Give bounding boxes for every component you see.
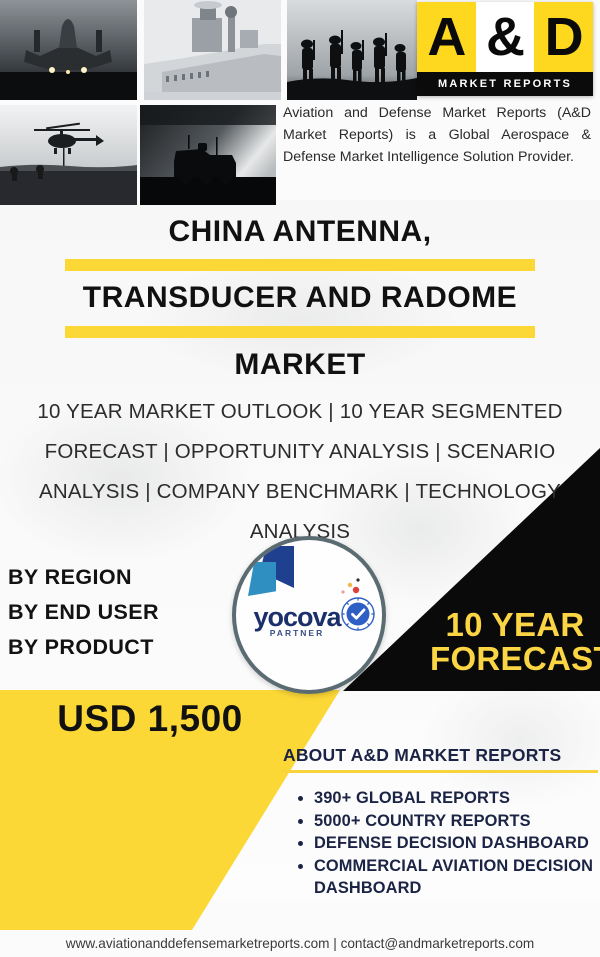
logo-letter-d-cell: D	[534, 2, 593, 72]
logo-letter-amp-cell: &	[476, 2, 535, 72]
logo-tagline: MARKET REPORTS	[438, 78, 572, 90]
verified-check-icon	[340, 596, 376, 632]
title-divider-1	[65, 259, 535, 271]
armored-vehicle-photo	[140, 105, 276, 205]
list-item: DEFENSE DECISION DASHBOARD	[314, 832, 600, 855]
logo-letter-a-cell: A	[417, 2, 476, 72]
title-line-1: CHINA ANTENNA,	[0, 216, 600, 248]
logo-letter-ampersand: &	[486, 10, 524, 64]
forecast-badge: 10 YEAR FORECAST	[430, 608, 600, 677]
list-item: COMMERCIAL AVIATION DECISION DASHBOARD	[314, 855, 600, 900]
about-heading: ABOUT A&D MARKET REPORTS	[283, 745, 593, 766]
report-title-block: CHINA ANTENNA, TRANSDUCER AND RADOME MAR…	[0, 216, 600, 381]
segment-item-region: BY REGION	[8, 560, 159, 595]
yocova-partner-label: PARTNER	[247, 628, 347, 638]
about-feature-list: 390+ GLOBAL REPORTS 5000+ COUNTRY REPORT…	[296, 787, 600, 900]
report-cover-poster: A & D MARKET REPORTS Aviation and Defens…	[0, 0, 600, 957]
logo-letter-a: A	[427, 10, 465, 64]
segmentation-list: BY REGION BY END USER BY PRODUCT	[8, 560, 159, 665]
title-divider-2	[65, 326, 535, 338]
ad-market-reports-logo: A & D MARKET REPORTS	[417, 2, 593, 96]
footer-contact-text: www.aviationanddefensemarketreports.com …	[0, 931, 600, 957]
list-item: 390+ GLOBAL REPORTS	[314, 787, 600, 810]
title-line-3: MARKET	[0, 349, 600, 381]
logo-letter-row: A & D	[417, 2, 593, 72]
yocova-mark-blue-shape	[248, 562, 276, 596]
about-heading-underline	[281, 770, 598, 773]
fighter-jet-photo	[0, 0, 137, 100]
helicopter-photo	[0, 105, 137, 205]
price-label: USD 1,500	[20, 698, 280, 740]
soldiers-silhouette-photo	[287, 0, 417, 100]
title-line-2: TRANSDUCER AND RADOME	[0, 282, 600, 314]
aircraft-carrier-photo	[144, 0, 281, 100]
report-scope-subtitle: 10 YEAR MARKET OUTLOOK | 10 YEAR SEGMENT…	[18, 392, 582, 552]
yocova-partner-badge: yocova PARTNER	[232, 536, 386, 694]
segment-item-end-user: BY END USER	[8, 595, 159, 630]
company-intro-text: Aviation and Defense Market Reports (A&D…	[283, 102, 591, 168]
yocova-sparkle-dots-icon	[332, 576, 366, 598]
list-item: 5000+ COUNTRY REPORTS	[314, 810, 600, 833]
logo-tagline-bar: MARKET REPORTS	[417, 72, 593, 96]
forecast-line-1: 10 YEAR	[430, 608, 600, 642]
logo-letter-d: D	[545, 10, 583, 64]
forecast-line-2: FORECAST	[430, 642, 600, 676]
segment-item-product: BY PRODUCT	[8, 630, 159, 665]
